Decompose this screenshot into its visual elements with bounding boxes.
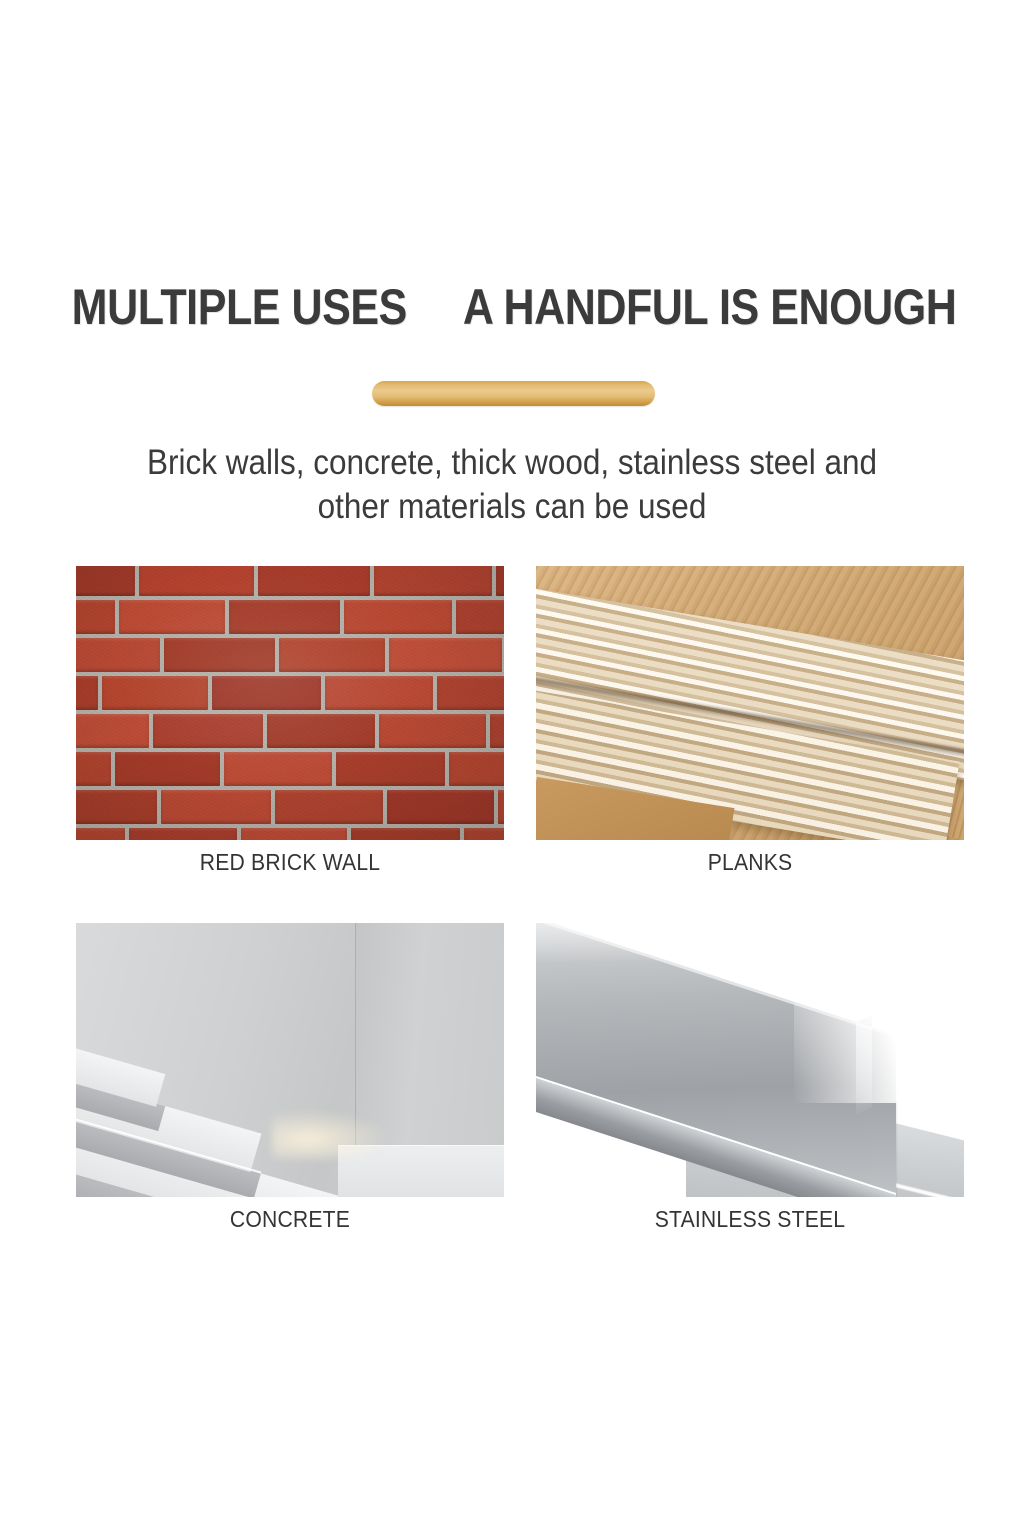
page-headline: MULTIPLE USES A HANDFUL IS ENOUGH	[72, 282, 953, 332]
page-subtitle: Brick walls, concrete, thick wood, stain…	[107, 441, 917, 529]
material-card-concrete: CONCRETE	[76, 923, 504, 1233]
brick-vignette-overlay	[76, 566, 504, 840]
material-card-planks: PLANKS	[536, 566, 964, 876]
planks-image	[536, 566, 964, 840]
materials-row-2: CONCRETE STAINLESS STEEL	[76, 923, 964, 1233]
material-card-red-brick-wall: RED BRICK WALL	[76, 566, 504, 876]
material-card-stainless-steel: STAINLESS STEEL	[536, 923, 964, 1233]
materials-row-1: RED BRICK WALL PLANKS	[76, 566, 964, 876]
stainless-steel-image	[536, 923, 964, 1197]
materials-grid: RED BRICK WALL PLANKS	[76, 566, 964, 1233]
headline-divider-bar	[372, 381, 655, 406]
material-label-stainless-steel: STAINLESS STEEL	[553, 1206, 947, 1233]
material-label-red-brick-wall: RED BRICK WALL	[93, 849, 487, 876]
steel-fade-top	[536, 923, 964, 963]
material-label-concrete: CONCRETE	[93, 1206, 487, 1233]
concrete-light-glow	[272, 1109, 392, 1159]
red-brick-wall-image	[76, 566, 504, 840]
concrete-image	[76, 923, 504, 1197]
material-label-planks: PLANKS	[553, 849, 947, 876]
